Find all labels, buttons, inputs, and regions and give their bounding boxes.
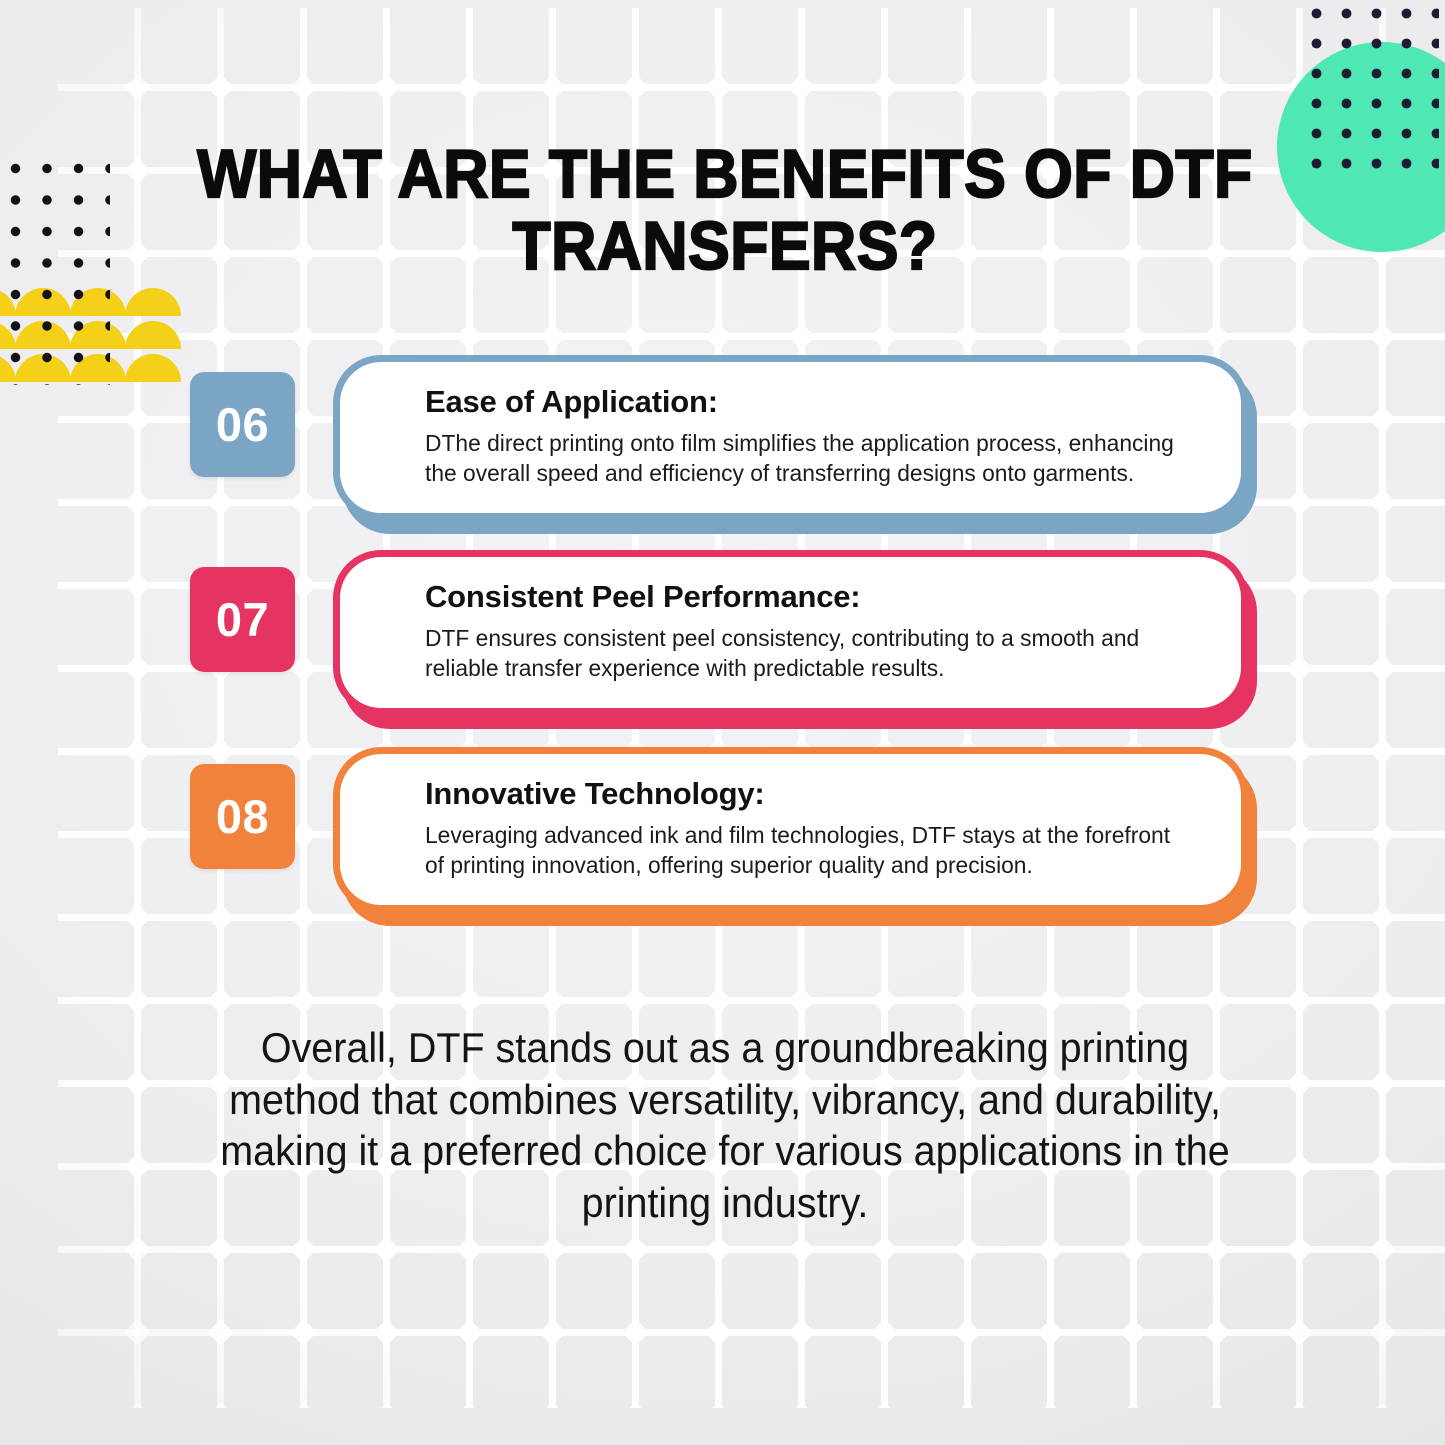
grid-diamond bbox=[788, 1236, 815, 1263]
grid-diamond bbox=[871, 987, 898, 1014]
grid-diamond bbox=[290, 1319, 317, 1346]
grid-diamond bbox=[1120, 987, 1147, 1014]
grid-diamond bbox=[1369, 1402, 1396, 1429]
grid-diamond bbox=[622, 987, 649, 1014]
grid-diamond bbox=[1286, 1153, 1313, 1180]
grid-diamond bbox=[124, 157, 151, 184]
grid-diamond bbox=[290, 1236, 317, 1263]
benefit-card-06: 06 Ease of Application: DThe direct prin… bbox=[0, 355, 1445, 530]
grid-diamond bbox=[1037, 323, 1064, 350]
grid-diamond bbox=[1286, 1319, 1313, 1346]
benefit-card-07: 07 Consistent Peel Performance: DTF ensu… bbox=[0, 550, 1445, 725]
grid-diamond bbox=[622, 74, 649, 101]
grid-diamond bbox=[1286, 323, 1313, 350]
grid-diamond bbox=[1369, 1319, 1396, 1346]
grid-diamond bbox=[539, 987, 566, 1014]
grid-diamond bbox=[124, 240, 151, 267]
card-number-badge-08: 08 bbox=[190, 764, 295, 869]
grid-diamond bbox=[456, 74, 483, 101]
grid-diamond bbox=[954, 987, 981, 1014]
grid-diamond bbox=[207, 323, 234, 350]
grid-diamond bbox=[207, 1236, 234, 1263]
grid-diamond bbox=[1369, 1070, 1396, 1097]
grid-diamond bbox=[1203, 1402, 1230, 1429]
grid-diamond bbox=[871, 1236, 898, 1263]
grid-diamond bbox=[705, 1319, 732, 1346]
grid-diamond bbox=[622, 1402, 649, 1429]
grid-diamond bbox=[1120, 1319, 1147, 1346]
page-title: WHAT ARE THE BENEFITS OF DTF TRANSFERS? bbox=[196, 138, 1254, 282]
grid-diamond bbox=[1203, 1236, 1230, 1263]
card-heading-08: Innovative Technology: bbox=[425, 776, 1215, 813]
grid-diamond bbox=[788, 1402, 815, 1429]
grid-diamond bbox=[456, 1319, 483, 1346]
grid-diamond bbox=[705, 1402, 732, 1429]
grid-diamond bbox=[871, 1402, 898, 1429]
grid-diamond bbox=[539, 323, 566, 350]
grid-diamond bbox=[1037, 987, 1064, 1014]
card-shell-08: Innovative Technology: Leveraging advanc… bbox=[333, 747, 1248, 922]
grid-diamond bbox=[1369, 1236, 1396, 1263]
grid-diamond bbox=[871, 1319, 898, 1346]
grid-diamond bbox=[290, 987, 317, 1014]
grid-diamond bbox=[622, 323, 649, 350]
grid-diamond bbox=[954, 1402, 981, 1429]
grid-diamond bbox=[373, 1319, 400, 1346]
grid-diamond bbox=[1286, 1236, 1313, 1263]
grid-diamond bbox=[705, 323, 732, 350]
grid-diamond bbox=[1286, 987, 1313, 1014]
grid-diamond bbox=[1120, 74, 1147, 101]
grid-diamond bbox=[124, 1319, 151, 1346]
grid-diamond bbox=[788, 323, 815, 350]
grid-diamond bbox=[539, 1402, 566, 1429]
grid-diamond bbox=[124, 1070, 151, 1097]
grid-diamond bbox=[456, 987, 483, 1014]
card-surface-08: Innovative Technology: Leveraging advanc… bbox=[333, 747, 1248, 912]
grid-diamond bbox=[539, 1236, 566, 1263]
grid-diamond bbox=[788, 1319, 815, 1346]
grid-diamond bbox=[373, 987, 400, 1014]
grid-diamond bbox=[1369, 323, 1396, 350]
grid-diamond bbox=[207, 987, 234, 1014]
grid-diamond bbox=[1037, 1319, 1064, 1346]
grid-diamond bbox=[705, 987, 732, 1014]
grid-diamond bbox=[622, 1319, 649, 1346]
semicircle bbox=[125, 321, 181, 349]
grid-diamond bbox=[290, 1402, 317, 1429]
grid-diamond bbox=[373, 1402, 400, 1429]
card-number-badge-06: 06 bbox=[190, 372, 295, 477]
grid-diamond bbox=[1203, 74, 1230, 101]
grid-diamond bbox=[1120, 1236, 1147, 1263]
grid-diamond bbox=[373, 74, 400, 101]
dot-grid-top-right bbox=[1311, 8, 1439, 180]
grid-diamond bbox=[1203, 987, 1230, 1014]
grid-diamond bbox=[124, 1153, 151, 1180]
card-surface-07: Consistent Peel Performance: DTF ensures… bbox=[333, 550, 1248, 715]
grid-diamond bbox=[1120, 323, 1147, 350]
grid-diamond bbox=[373, 1236, 400, 1263]
infographic-poster: WHAT ARE THE BENEFITS OF DTF TRANSFERS? … bbox=[0, 0, 1445, 1445]
card-heading-07: Consistent Peel Performance: bbox=[425, 579, 1215, 616]
grid-diamond bbox=[871, 323, 898, 350]
grid-diamond bbox=[954, 323, 981, 350]
grid-diamond bbox=[124, 987, 151, 1014]
grid-diamond bbox=[705, 74, 732, 101]
grid-diamond bbox=[1203, 1319, 1230, 1346]
grid-diamond bbox=[1369, 987, 1396, 1014]
grid-diamond bbox=[1286, 240, 1313, 267]
grid-diamond bbox=[788, 987, 815, 1014]
grid-diamond bbox=[456, 1402, 483, 1429]
grid-diamond bbox=[207, 1319, 234, 1346]
grid-diamond bbox=[788, 74, 815, 101]
card-shell-07: Consistent Peel Performance: DTF ensures… bbox=[333, 550, 1248, 725]
grid-diamond bbox=[124, 74, 151, 101]
grid-diamond bbox=[124, 1236, 151, 1263]
summary-paragraph: Overall, DTF stands out as a groundbreak… bbox=[208, 1022, 1242, 1229]
grid-diamond bbox=[1037, 74, 1064, 101]
grid-diamond bbox=[1369, 1153, 1396, 1180]
card-content-08: Innovative Technology: Leveraging advanc… bbox=[425, 776, 1215, 881]
grid-diamond bbox=[871, 74, 898, 101]
grid-diamond bbox=[124, 1402, 151, 1429]
grid-diamond bbox=[373, 323, 400, 350]
grid-diamond bbox=[1037, 1402, 1064, 1429]
grid-diamond bbox=[1203, 323, 1230, 350]
dot-grid-left bbox=[10, 163, 110, 385]
grid-diamond bbox=[1037, 1236, 1064, 1263]
grid-diamond bbox=[1286, 1070, 1313, 1097]
card-number-badge-07: 07 bbox=[190, 567, 295, 672]
grid-diamond bbox=[456, 1236, 483, 1263]
card-content-06: Ease of Application: DThe direct printin… bbox=[425, 384, 1215, 489]
grid-diamond bbox=[207, 74, 234, 101]
grid-diamond bbox=[290, 74, 317, 101]
benefit-card-08: 08 Innovative Technology: Leveraging adv… bbox=[0, 747, 1445, 922]
card-body-08: Leveraging advanced ink and film technol… bbox=[425, 820, 1191, 881]
card-shell-06: Ease of Application: DThe direct printin… bbox=[333, 355, 1248, 530]
grid-diamond bbox=[539, 1319, 566, 1346]
grid-diamond bbox=[207, 1402, 234, 1429]
grid-diamond bbox=[290, 323, 317, 350]
grid-diamond bbox=[954, 74, 981, 101]
grid-diamond bbox=[954, 1319, 981, 1346]
grid-diamond bbox=[1286, 1402, 1313, 1429]
grid-diamond bbox=[622, 1236, 649, 1263]
card-body-07: DTF ensures consistent peel consistency,… bbox=[425, 623, 1191, 684]
grid-diamond bbox=[1120, 1402, 1147, 1429]
grid-diamond bbox=[456, 323, 483, 350]
card-body-06: DThe direct printing onto film simplifie… bbox=[425, 428, 1191, 489]
card-heading-06: Ease of Application: bbox=[425, 384, 1215, 421]
semicircle bbox=[125, 288, 181, 316]
grid-diamond bbox=[954, 1236, 981, 1263]
grid-diamond bbox=[705, 1236, 732, 1263]
card-content-07: Consistent Peel Performance: DTF ensures… bbox=[425, 579, 1215, 684]
card-surface-06: Ease of Application: DThe direct printin… bbox=[333, 355, 1248, 520]
grid-diamond bbox=[539, 74, 566, 101]
